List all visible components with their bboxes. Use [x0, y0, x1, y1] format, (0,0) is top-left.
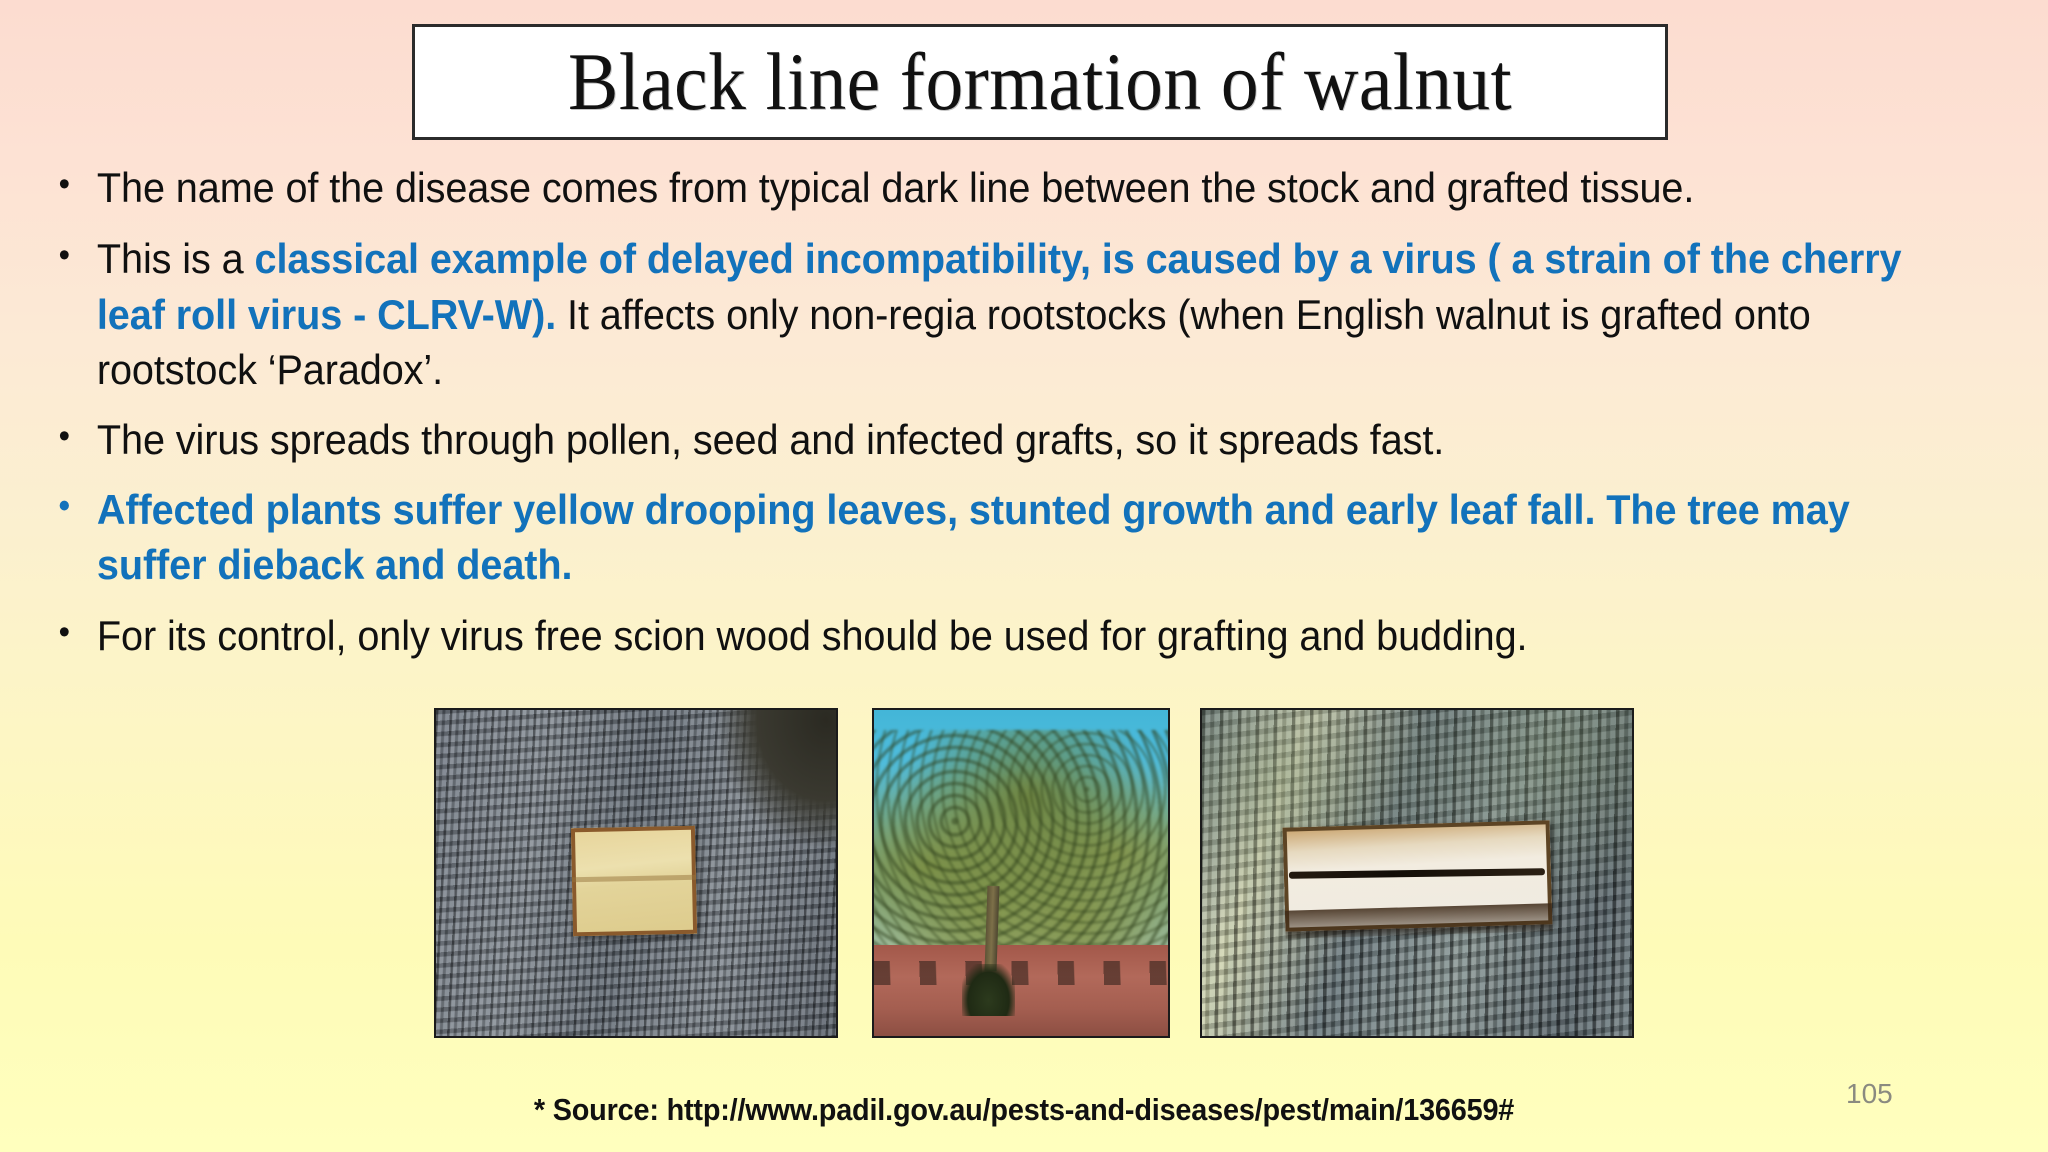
bullet-2-text-a: This is a: [97, 235, 255, 282]
bullet-1-text: The name of the disease comes from typic…: [97, 164, 1694, 211]
bullet-item-4: Affected plants suffer yellow drooping l…: [52, 482, 1924, 593]
photo-orchard-tree: [872, 708, 1170, 1038]
slide-canvas: Black line formation of walnut The name …: [0, 0, 2048, 1152]
photo-bark-tan-window: [434, 708, 838, 1038]
black-line-marking: [1289, 868, 1545, 879]
ground-shrub: [962, 964, 1015, 1016]
bullet-item-1: The name of the disease comes from typic…: [52, 160, 1924, 215]
bullet-item-2: This is a classical example of delayed i…: [52, 231, 1924, 397]
graft-union-window: [1282, 820, 1551, 932]
source-note: * Source: http://www.padil.gov.au/pests-…: [72, 1092, 1977, 1128]
bullet-item-3: The virus spreads through pollen, seed a…: [52, 412, 1924, 467]
page-title: Black line formation of walnut: [568, 41, 1512, 123]
bullet-3-text: The virus spreads through pollen, seed a…: [97, 416, 1444, 463]
slide-title-box: Black line formation of walnut: [412, 24, 1668, 140]
graft-union-window: [571, 826, 697, 936]
bullet-item-5: For its control, only virus free scion w…: [52, 608, 1924, 663]
tree-canopy: [872, 730, 1170, 958]
bullet-4-text: Affected plants suffer yellow drooping l…: [97, 486, 1850, 588]
page-number: 105: [1846, 1078, 1893, 1110]
photo-bark-black-line: [1200, 708, 1634, 1038]
bullet-5-text: For its control, only virus free scion w…: [97, 612, 1528, 659]
bullet-list: The name of the disease comes from typic…: [52, 160, 2012, 663]
soil-region: [874, 945, 1168, 1036]
photo-strip: [434, 708, 1634, 1038]
